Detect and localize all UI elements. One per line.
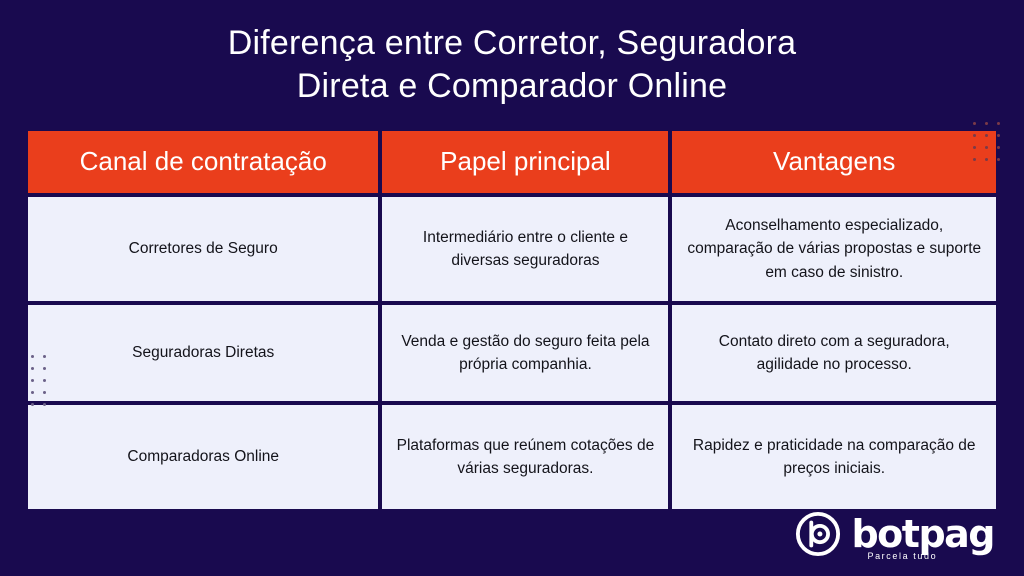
- table-header-row: Canal de contratação Papel principal Van…: [28, 131, 996, 193]
- cell-role: Venda e gestão do seguro feita pela próp…: [382, 305, 668, 401]
- comparison-table: Canal de contratação Papel principal Van…: [24, 127, 1000, 513]
- column-header-advantages: Vantagens: [672, 131, 996, 193]
- comparison-table-wrapper: Canal de contratação Papel principal Van…: [24, 127, 1000, 513]
- cell-advantages: Contato direto com a seguradora, agilida…: [672, 305, 996, 401]
- cell-role: Plataformas que reúnem cotações de vária…: [382, 405, 668, 509]
- botpag-circle-icon: [795, 511, 841, 557]
- cell-channel: Corretores de Seguro: [28, 197, 378, 301]
- cell-channel: Seguradoras Diretas: [28, 305, 378, 401]
- table-row: Comparadoras Online Plataformas que reún…: [28, 405, 996, 509]
- title-line-1: Diferença entre Corretor, Seguradora: [60, 22, 964, 65]
- cell-role: Intermediário entre o cliente e diversas…: [382, 197, 668, 301]
- column-header-role: Papel principal: [382, 131, 668, 193]
- table-header: Canal de contratação Papel principal Van…: [28, 131, 996, 193]
- column-header-channel: Canal de contratação: [28, 131, 378, 193]
- table-row: Seguradoras Diretas Venda e gestão do se…: [28, 305, 996, 401]
- cell-channel: Comparadoras Online: [28, 405, 378, 509]
- brand-logo: botpag Parcela tudo: [795, 508, 994, 560]
- slide-canvas: Diferença entre Corretor, Seguradora Dir…: [0, 0, 1024, 576]
- table-body: Corretores de Seguro Intermediário entre…: [28, 197, 996, 509]
- logo-wordmark: botpag: [851, 515, 994, 553]
- table-row: Corretores de Seguro Intermediário entre…: [28, 197, 996, 301]
- page-title: Diferença entre Corretor, Seguradora Dir…: [0, 22, 1024, 108]
- logo-text-block: botpag Parcela tudo: [851, 511, 994, 557]
- title-line-2: Direta e Comparador Online: [60, 65, 964, 108]
- cell-advantages: Aconselhamento especializado, comparação…: [672, 197, 996, 301]
- cell-advantages: Rapidez e praticidade na comparação de p…: [672, 405, 996, 509]
- logo-tagline: Parcela tudo: [867, 552, 937, 561]
